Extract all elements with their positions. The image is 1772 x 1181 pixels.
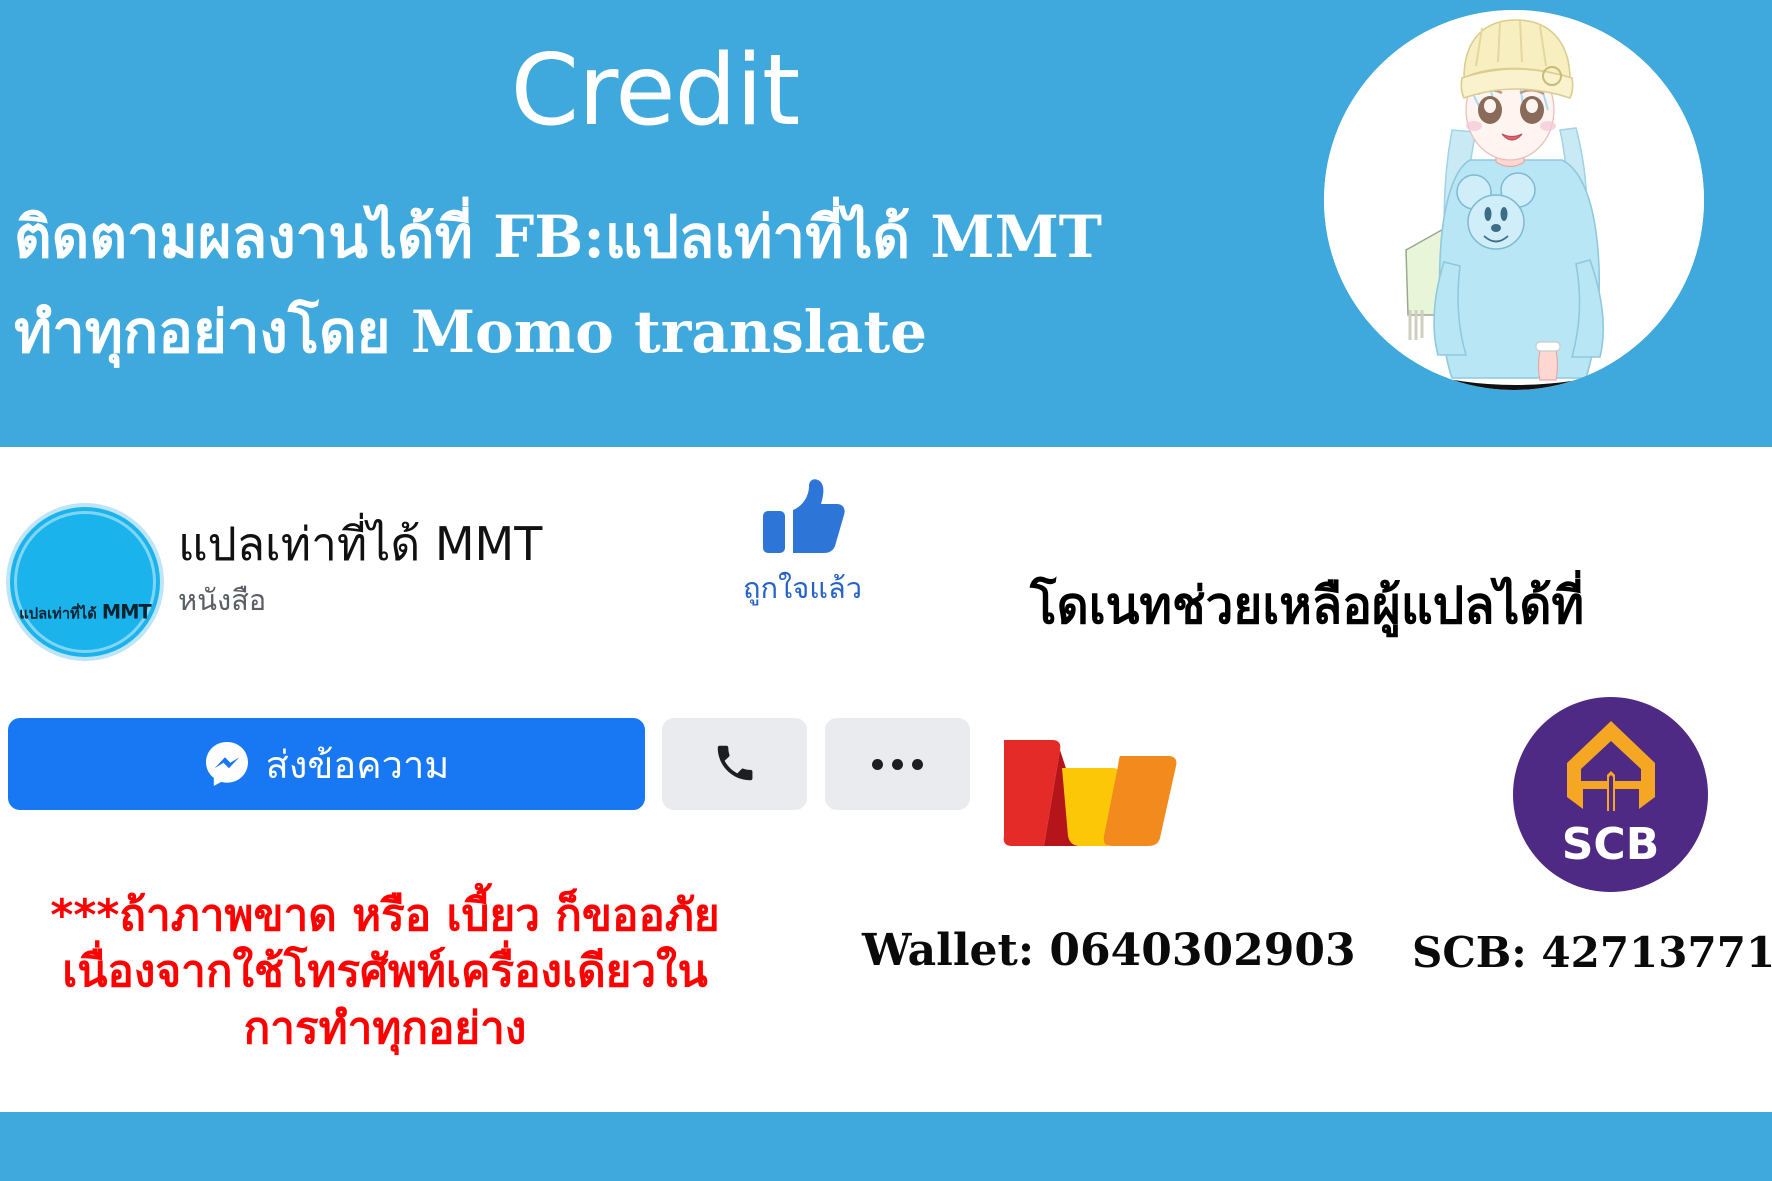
call-button[interactable] — [662, 718, 807, 810]
header-follow-line: ติดตามผลงานได้ที่ FB:แปลเท่าที่ได้ MMT — [14, 205, 1102, 270]
page-category: หนังสือ — [178, 577, 266, 623]
avatar-label-mmt: MMT — [102, 601, 151, 623]
ellipsis-icon — [872, 759, 923, 770]
avatar-label-thai: แปลเท่าที่ได้ — [19, 605, 97, 622]
truemoney-wallet-logo-icon — [1000, 728, 1180, 848]
scb-account-number: SCB: 4271377161 — [1412, 928, 1772, 977]
send-message-label: ส่งข้อความ — [266, 734, 450, 795]
like-label: ถูกใจแล้ว — [735, 565, 870, 611]
disclaimer-line-2: เนื่องจากใช้โทรศัพท์เครื่องเดียวใน — [0, 944, 770, 1000]
avatar-label: แปลเท่าที่ได้ MMT — [16, 601, 154, 626]
donate-heading: โดเนทช่วยเหลือผู้แปลได้ที่ — [1030, 565, 1584, 646]
header-credit-line: ทำทุกอย่างโดย Momo translate — [14, 300, 927, 365]
disclaimer-line-1: ***ถ้าภาพขาด หรือ เบี้ยว ก็ขออภัย — [0, 888, 770, 944]
anime-girl-illustration-icon — [1324, 10, 1704, 390]
page-title: Credit — [0, 38, 1310, 146]
scb-logo-text: SCB — [1562, 819, 1660, 870]
messenger-icon — [204, 740, 250, 789]
avatar-ring — [14, 511, 156, 653]
scb-bank-logo-icon: SCB — [1513, 697, 1708, 892]
wallet-account-number: Wallet: 0640302903 — [862, 925, 1356, 976]
disclaimer-line-3: การทำทุกอย่าง — [0, 1001, 770, 1057]
page-name: แปลเท่าที่ได้ MMT — [178, 508, 542, 581]
send-message-button[interactable]: ส่งข้อความ — [8, 718, 645, 810]
credit-page: Credit ติดตามผลงานได้ที่ FB:แปลเท่าที่ได… — [0, 0, 1772, 1181]
like-button[interactable]: ถูกใจแล้ว — [735, 478, 870, 611]
thumbs-up-icon — [735, 478, 870, 561]
disclaimer-text: ***ถ้าภาพขาด หรือ เบี้ยว ก็ขออภัย เนื่อง… — [0, 888, 770, 1057]
phone-icon — [712, 740, 758, 789]
more-options-button[interactable] — [825, 718, 970, 810]
header-banner: Credit ติดตามผลงานได้ที่ FB:แปลเท่าที่ได… — [0, 0, 1772, 447]
page-avatar[interactable]: แปลเท่าที่ได้ MMT — [10, 507, 160, 657]
footer-bar — [0, 1112, 1772, 1181]
